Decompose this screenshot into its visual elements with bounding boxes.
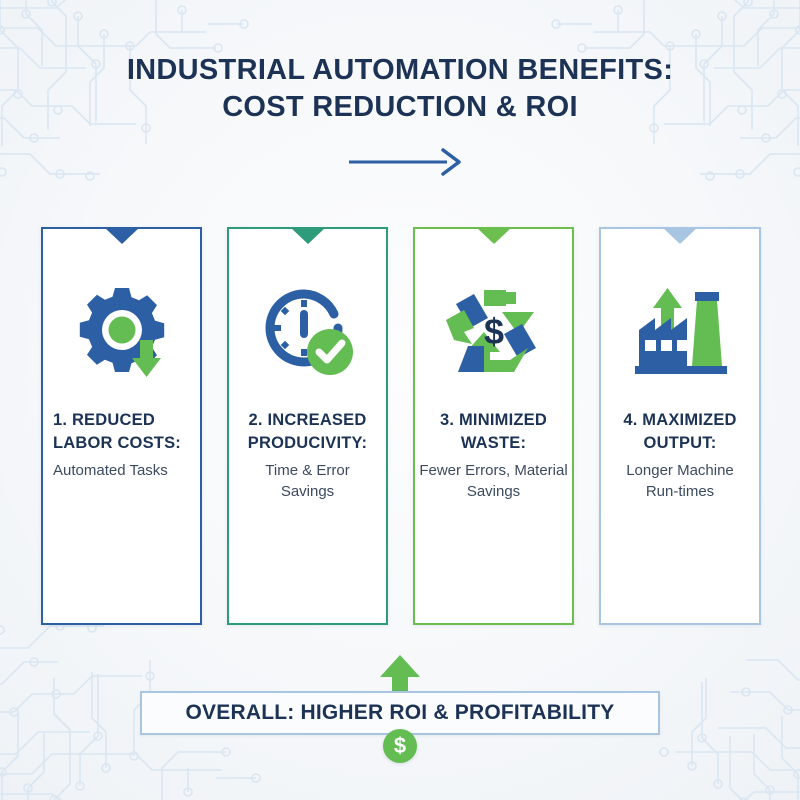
header-arrow <box>0 147 800 177</box>
card-subtitle-1: Automated Tasks <box>53 460 208 482</box>
card-icon-2 <box>229 277 386 387</box>
card-text-1: 1. REDUCED LABOR COSTS: Automated Tasks <box>35 409 208 481</box>
card-notch <box>290 227 326 244</box>
card-subtitle-2: Time & Error Savings <box>221 460 394 504</box>
card-icon-4 <box>601 277 759 387</box>
card-text-4: 4. MAXIMIZED OUTPUT: Longer Machine Run-… <box>593 409 767 503</box>
page-title: INDUSTRIAL AUTOMATION BENEFITS: COST RED… <box>0 52 800 126</box>
arrow-right-icon <box>347 147 467 177</box>
recycle-dollar-icon: $ <box>444 286 544 378</box>
card-text-3: 3. MINIMIZED WASTE: Fewer Errors, Materi… <box>407 409 580 503</box>
card-subtitle-4: Longer Machine Run-times <box>593 460 767 504</box>
card-title-4: 4. MAXIMIZED OUTPUT: <box>593 409 767 455</box>
card-title-2: 2. INCREASED PRODUCIVITY: <box>221 409 394 455</box>
card-notch <box>476 227 512 244</box>
dollar-circle-icon: $ <box>383 729 417 763</box>
card-notch <box>104 227 140 244</box>
footer-banner-text: OVERALL: HIGHER ROI & PROFITABILITY <box>186 701 615 725</box>
svg-text:$: $ <box>483 311 503 352</box>
benefit-card-4[interactable]: 4. MAXIMIZED OUTPUT: Longer Machine Run-… <box>599 227 761 625</box>
benefit-card-1[interactable]: 1. REDUCED LABOR COSTS: Automated Tasks <box>41 227 202 625</box>
card-title-3: 3. MINIMIZED WASTE: <box>407 409 580 455</box>
card-icon-3: $ <box>415 277 572 387</box>
page-title-line-1: INDUSTRIAL AUTOMATION BENEFITS: <box>0 52 800 89</box>
benefit-card-3[interactable]: $ 3. MINIMIZED WASTE: Fewer Errors, Mate… <box>413 227 574 625</box>
card-subtitle-3: Fewer Errors, Material Savings <box>407 460 580 504</box>
benefit-cards: 1. REDUCED LABOR COSTS: Automated Tasks <box>41 227 761 625</box>
clock-check-icon <box>260 284 356 380</box>
benefit-card-2[interactable]: 2. INCREASED PRODUCIVITY: Time & Error S… <box>227 227 388 625</box>
infographic-canvas: INDUSTRIAL AUTOMATION BENEFITS: COST RED… <box>0 0 800 800</box>
card-text-2: 2. INCREASED PRODUCIVITY: Time & Error S… <box>221 409 394 503</box>
card-icon-1 <box>43 277 200 387</box>
gear-down-arrow-icon <box>74 284 170 380</box>
card-notch <box>662 227 698 244</box>
factory-up-arrow-icon <box>629 284 731 380</box>
dollar-badge-label: $ <box>394 735 406 757</box>
card-title-1: 1. REDUCED LABOR COSTS: <box>53 409 208 455</box>
page-title-line-2: COST REDUCTION & ROI <box>0 89 800 126</box>
